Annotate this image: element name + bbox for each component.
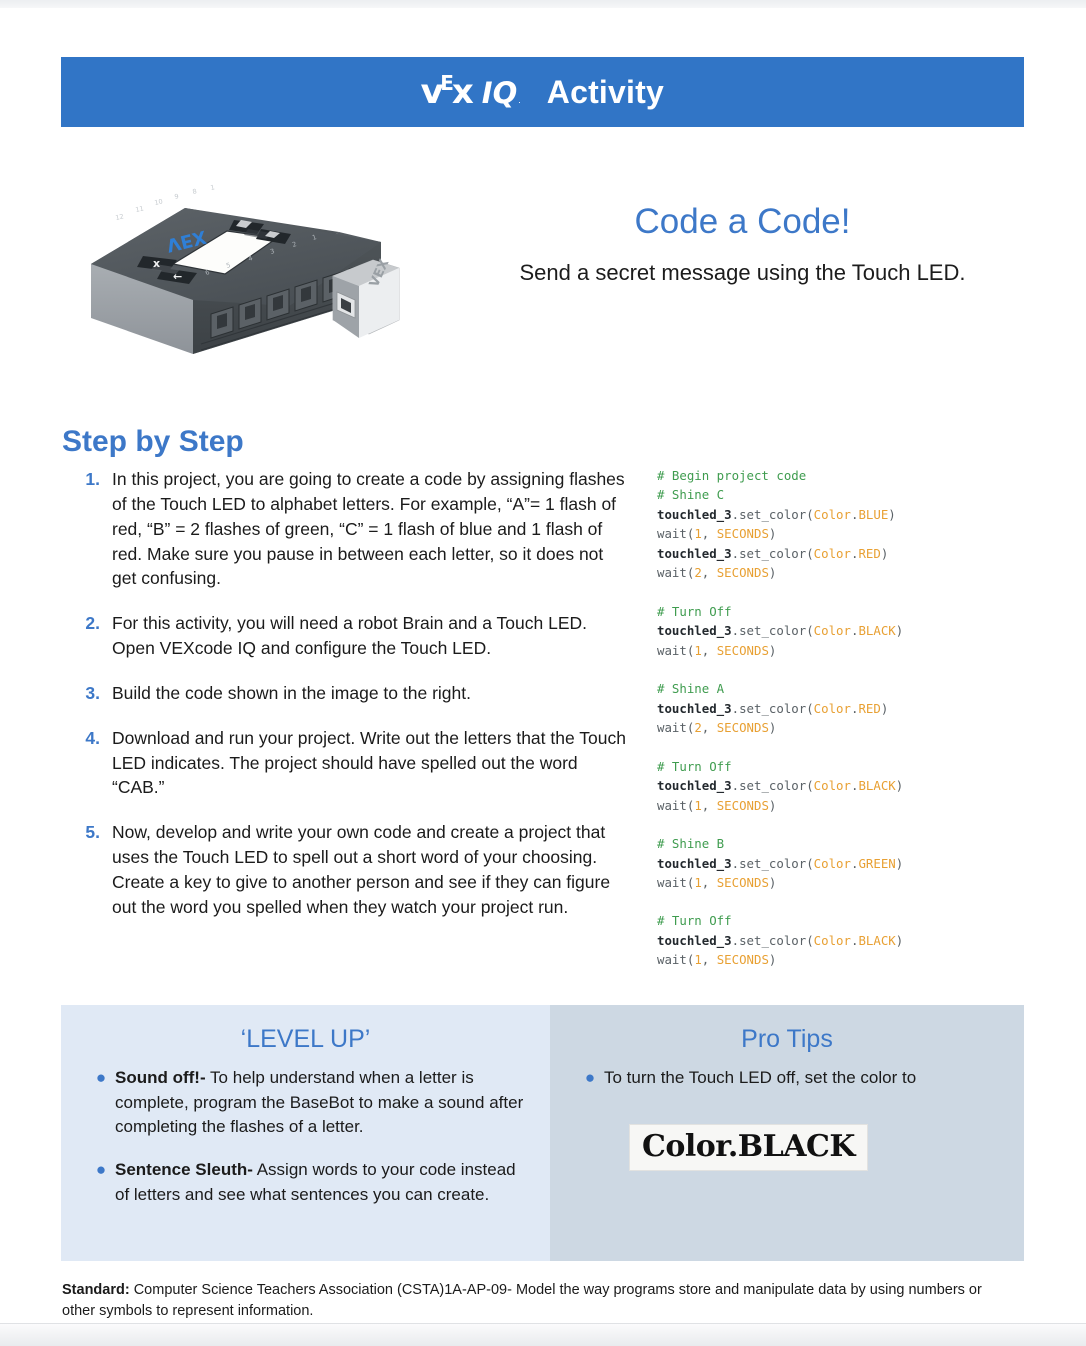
page-title: Code a Code! <box>461 203 1024 242</box>
panel-item-lead: Sentence Sleuth- <box>115 1160 253 1179</box>
code-comment-line: # Turn Off <box>657 602 997 621</box>
code-function: wait( <box>657 565 694 580</box>
bottom-panels: ‘LEVEL UP’ ●Sound off!- To help understa… <box>61 1005 1024 1261</box>
code-comment: # Shine B <box>657 836 724 851</box>
panel-item-lead: Sound off!- <box>115 1068 206 1087</box>
svg-text:10: 10 <box>154 197 164 207</box>
code-units: SECONDS <box>717 526 769 541</box>
code-blank-line <box>657 738 997 757</box>
svg-text:9: 9 <box>174 192 180 201</box>
hero-section: VEX x ← 1 8 9 10 11 <box>61 158 1024 398</box>
code-comment-line: # Turn Off <box>657 911 997 930</box>
code-method: .set_color( <box>732 933 814 948</box>
step-text: Download and run your project. Write out… <box>112 726 630 801</box>
step-text: Build the code shown in the image to the… <box>112 681 630 706</box>
logo-letter-x: x <box>452 75 473 109</box>
code-paren: ) <box>769 798 776 813</box>
logo-text-iq: IQ <box>482 79 517 108</box>
code-function: wait( <box>657 875 694 890</box>
code-object: touchled_3 <box>657 546 732 561</box>
level-up-title: ‘LEVEL UP’ <box>87 1025 524 1054</box>
code-comment-line: # Begin project code <box>657 466 997 485</box>
pro-tips-list: ●To turn the Touch LED off, set the colo… <box>576 1066 998 1091</box>
svg-text:8: 8 <box>192 187 198 196</box>
banner-title: Activity <box>547 74 664 111</box>
panel-list-item: ●Sound off!- To help understand when a l… <box>87 1066 524 1140</box>
code-wait-line: wait(2, SECONDS) <box>657 718 997 737</box>
step-by-step-heading: Step by Step <box>62 425 244 459</box>
code-function: wait( <box>657 643 694 658</box>
code-method: .set_color( <box>732 701 814 716</box>
code-comma: , <box>702 643 717 658</box>
panel-list-item: ●Sentence Sleuth- Assign words to your c… <box>87 1158 524 1207</box>
code-const-name: BLACK <box>858 933 895 948</box>
step-number: 1. <box>78 467 112 492</box>
step-text: For this activity, you will need a robot… <box>112 611 630 661</box>
code-const-prefix: Color <box>814 856 851 871</box>
code-const-prefix: Color <box>814 623 851 638</box>
pro-tips-panel: Pro Tips ●To turn the Touch LED off, set… <box>550 1005 1024 1261</box>
code-wait-line: wait(1, SECONDS) <box>657 873 997 892</box>
code-comma: , <box>702 565 717 580</box>
step-item: 4.Download and run your project. Write o… <box>78 726 630 801</box>
code-units: SECONDS <box>717 875 769 890</box>
brain-illustration-svg: VEX x ← 1 8 9 10 11 <box>81 168 401 383</box>
code-blank-line <box>657 892 997 911</box>
code-method: .set_color( <box>732 778 814 793</box>
code-comment: # Turn Off <box>657 604 732 619</box>
code-call-line: touchled_3.set_color(Color.BLACK) <box>657 621 997 640</box>
code-call-line: touchled_3.set_color(Color.RED) <box>657 544 997 563</box>
svg-text:←: ← <box>173 270 182 283</box>
panel-list-item: ●To turn the Touch LED off, set the colo… <box>576 1066 998 1091</box>
code-const-name: RED <box>858 546 880 561</box>
code-number: 2 <box>694 720 701 735</box>
code-wait-line: wait(1, SECONDS) <box>657 524 997 543</box>
code-const-prefix: Color <box>814 701 851 716</box>
code-paren: ) <box>896 778 903 793</box>
code-function: wait( <box>657 798 694 813</box>
code-units: SECONDS <box>717 720 769 735</box>
code-comment: # Turn Off <box>657 759 732 774</box>
page-subtitle: Send a secret message using the Touch LE… <box>461 260 1024 286</box>
activity-header-banner: vExIQ. Activity <box>61 57 1024 127</box>
standard-text: Computer Science Teachers Association (C… <box>62 1282 982 1319</box>
code-paren: ) <box>881 701 888 716</box>
vex-iq-brain-image: VEX x ← 1 8 9 10 11 <box>81 168 401 383</box>
step-item: 2.For this activity, you will need a rob… <box>78 611 630 661</box>
code-number: 1 <box>694 643 701 658</box>
code-const-prefix: Color <box>814 778 851 793</box>
code-number: 2 <box>694 565 701 580</box>
code-number: 1 <box>694 798 701 813</box>
viewer-bottom-strip <box>0 1323 1086 1346</box>
panel-item-text: Sound off!- To help understand when a le… <box>115 1066 524 1140</box>
code-units: SECONDS <box>717 952 769 967</box>
code-number: 1 <box>694 952 701 967</box>
code-paren: ) <box>769 565 776 580</box>
panel-item-body: To turn the Touch LED off, set the color… <box>604 1068 916 1087</box>
code-object: touchled_3 <box>657 933 732 948</box>
code-const-name: BLACK <box>858 623 895 638</box>
panel-item-text: To turn the Touch LED off, set the color… <box>604 1066 998 1091</box>
code-paren: ) <box>769 952 776 967</box>
bullet-icon: ● <box>576 1066 604 1091</box>
code-call-line: touchled_3.set_color(Color.GREEN) <box>657 854 997 873</box>
code-comment: # Turn Off <box>657 913 732 928</box>
code-comment-line: # Shine B <box>657 834 997 853</box>
code-comma: , <box>702 952 717 967</box>
code-paren: ) <box>888 507 895 522</box>
steps-list: 1.In this project, you are going to crea… <box>78 467 630 940</box>
hero-text-block: Code a Code! Send a secret message using… <box>461 203 1024 286</box>
code-call-line: touchled_3.set_color(Color.BLUE) <box>657 505 997 524</box>
bullet-icon: ● <box>87 1158 115 1183</box>
code-object: touchled_3 <box>657 856 732 871</box>
svg-text:1: 1 <box>210 183 216 192</box>
code-comment: # Shine C <box>657 487 724 502</box>
code-method: .set_color( <box>732 856 814 871</box>
level-up-list: ●Sound off!- To help understand when a l… <box>87 1066 524 1207</box>
code-paren: ) <box>769 526 776 541</box>
level-up-panel: ‘LEVEL UP’ ●Sound off!- To help understa… <box>61 1005 550 1261</box>
code-object: touchled_3 <box>657 778 732 793</box>
vex-iq-logo: vExIQ. <box>421 75 519 109</box>
code-comma: , <box>702 720 717 735</box>
code-comment-line: # Shine A <box>657 679 997 698</box>
code-function: wait( <box>657 952 694 967</box>
code-comma: , <box>702 798 717 813</box>
step-number: 2. <box>78 611 112 636</box>
step-number: 3. <box>78 681 112 706</box>
code-method: .set_color( <box>732 623 814 638</box>
svg-text:12: 12 <box>115 212 125 222</box>
code-method: .set_color( <box>732 507 814 522</box>
code-paren: ) <box>896 623 903 638</box>
code-const-name: BLUE <box>858 507 888 522</box>
document-page: vExIQ. Activity <box>0 8 1086 1324</box>
step-item: 5.Now, develop and write your own code a… <box>78 820 630 919</box>
step-text: In this project, you are going to create… <box>112 467 630 591</box>
bullet-icon: ● <box>87 1066 115 1091</box>
code-wait-line: wait(1, SECONDS) <box>657 950 997 969</box>
svg-text:11: 11 <box>135 204 145 214</box>
code-const-name: RED <box>858 701 880 716</box>
code-function: wait( <box>657 526 694 541</box>
step-text: Now, develop and write your own code and… <box>112 820 630 919</box>
code-method: .set_color( <box>732 546 814 561</box>
code-comma: , <box>702 526 717 541</box>
standard-footer: Standard: Computer Science Teachers Asso… <box>62 1280 1002 1322</box>
svg-text:x: x <box>153 257 160 270</box>
code-object: touchled_3 <box>657 623 732 638</box>
code-comment: # Shine A <box>657 681 724 696</box>
code-paren: ) <box>896 933 903 948</box>
code-wait-line: wait(2, SECONDS) <box>657 563 997 582</box>
step-number: 5. <box>78 820 112 845</box>
code-blank-line <box>657 583 997 602</box>
standard-label: Standard: <box>62 1282 130 1298</box>
code-units: SECONDS <box>717 565 769 580</box>
code-call-line: touchled_3.set_color(Color.RED) <box>657 699 997 718</box>
code-object: touchled_3 <box>657 507 732 522</box>
code-sample: # Begin project code# Shine Ctouchled_3.… <box>657 466 997 970</box>
code-const-prefix: Color <box>814 507 851 522</box>
code-wait-line: wait(1, SECONDS) <box>657 796 997 815</box>
step-item: 1.In this project, you are going to crea… <box>78 467 630 591</box>
code-blank-line <box>657 660 997 679</box>
pro-tips-title: Pro Tips <box>576 1025 998 1054</box>
code-const-prefix: Color <box>814 933 851 948</box>
code-call-line: touchled_3.set_color(Color.BLACK) <box>657 931 997 950</box>
code-paren: ) <box>769 720 776 735</box>
code-paren: ) <box>769 643 776 658</box>
code-const-prefix: Color <box>814 546 851 561</box>
logo-letter-e: E <box>440 73 453 93</box>
code-comma: , <box>702 875 717 890</box>
code-comment-line: # Shine C <box>657 485 997 504</box>
code-wait-line: wait(1, SECONDS) <box>657 641 997 660</box>
code-comment: # Begin project code <box>657 468 806 483</box>
code-object: touchled_3 <box>657 701 732 716</box>
color-black-code-chip: Color.BLACK <box>630 1125 867 1170</box>
code-function: wait( <box>657 720 694 735</box>
code-paren: ) <box>769 875 776 890</box>
code-paren: ) <box>881 546 888 561</box>
code-call-line: touchled_3.set_color(Color.BLACK) <box>657 776 997 795</box>
code-const-name: BLACK <box>858 778 895 793</box>
code-blank-line <box>657 815 997 834</box>
code-const-name: GREEN <box>858 856 895 871</box>
step-number: 4. <box>78 726 112 751</box>
logo-trademark-icon: . <box>518 96 520 105</box>
code-paren: ) <box>896 856 903 871</box>
step-item: 3.Build the code shown in the image to t… <box>78 681 630 706</box>
code-units: SECONDS <box>717 643 769 658</box>
code-number: 1 <box>694 526 701 541</box>
panel-item-text: Sentence Sleuth- Assign words to your co… <box>115 1158 524 1207</box>
code-units: SECONDS <box>717 798 769 813</box>
code-comment-line: # Turn Off <box>657 757 997 776</box>
code-number: 1 <box>694 875 701 890</box>
